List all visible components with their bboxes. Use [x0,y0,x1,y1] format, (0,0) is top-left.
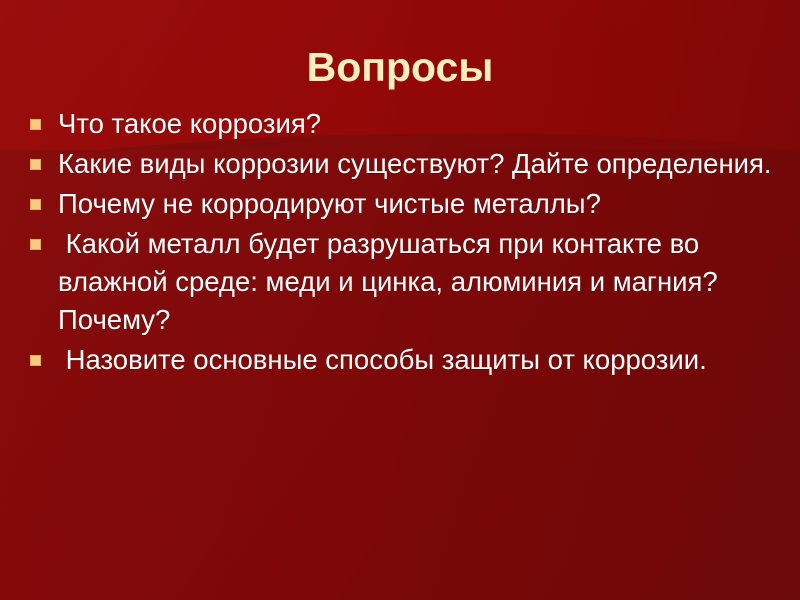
square-bullet-icon [30,119,41,130]
slide-bullet-list: Что такое коррозия? Какие виды коррозии … [18,105,786,381]
list-item: Какие виды коррозии существуют? Дайте оп… [18,145,786,183]
bullet-text: Назовите основные способы защиты от корр… [58,341,786,379]
bullet-text: Какие виды коррозии существуют? Дайте оп… [58,145,786,183]
presentation-slide: Вопросы Что такое коррозия? Какие виды к… [0,0,800,600]
list-item: Назовите основные способы защиты от корр… [18,341,786,379]
bullet-text: Какой металл будет разрушаться при конта… [58,225,786,339]
square-bullet-icon [30,355,41,366]
bullet-text: Что такое коррозия? [58,105,786,143]
square-bullet-icon [30,199,41,210]
square-bullet-icon [30,159,41,170]
list-item: Какой металл будет разрушаться при конта… [18,225,786,339]
list-item: Что такое коррозия? [18,105,786,143]
square-bullet-icon [30,239,41,250]
list-item: Почему не корродируют чистые металлы? [18,185,786,223]
bullet-text: Почему не корродируют чистые металлы? [58,185,786,223]
slide-title: Вопросы [0,44,800,90]
